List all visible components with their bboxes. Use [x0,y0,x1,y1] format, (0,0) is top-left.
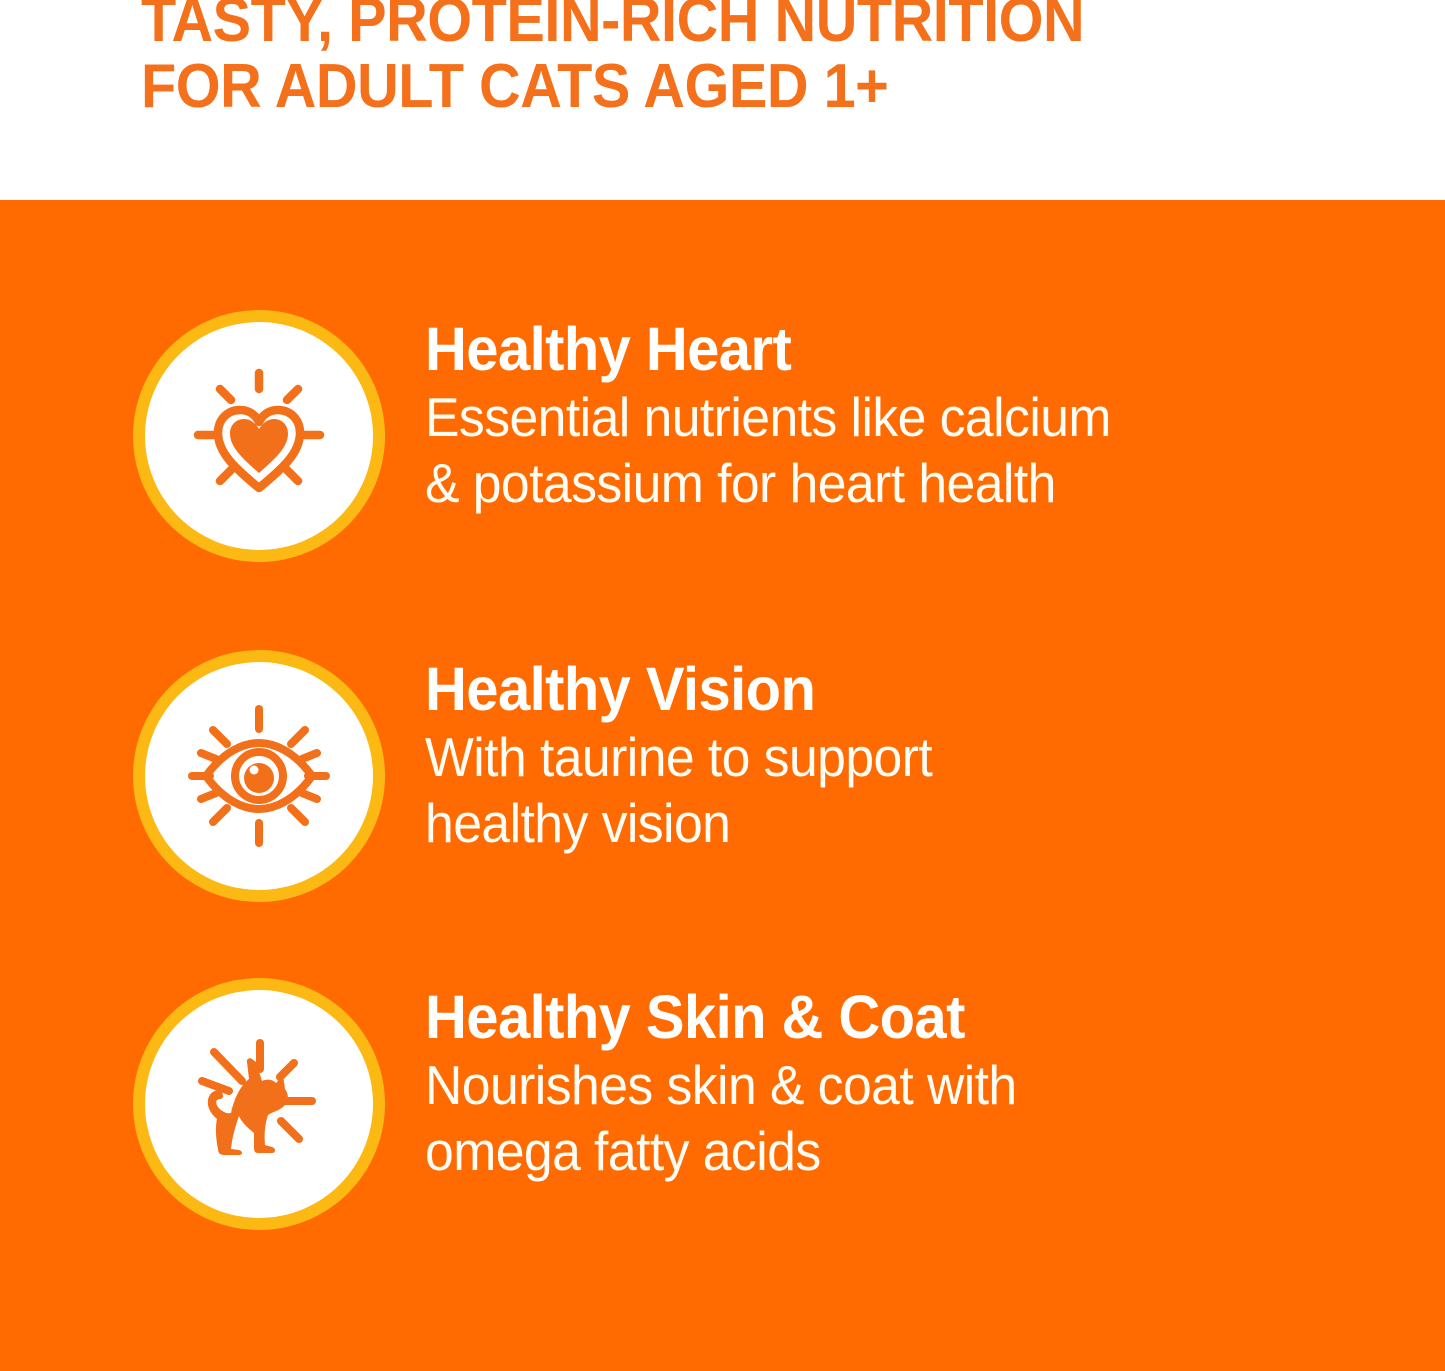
feature-text-healthy-skin-and-coat: Healthy Skin & Coat Nourishes skin & coa… [425,984,1405,1184]
feature-title: Healthy Vision [425,656,1356,722]
feature-title: Healthy Skin & Coat [425,984,1356,1050]
page-title: TASTY, PROTEIN-RICH NUTRITION FOR ADULT … [141,0,1285,120]
infographic-page: TASTY, PROTEIN-RICH NUTRITION FOR ADULT … [0,0,1445,1371]
feature-description: Essential nutrients like calcium & potas… [425,384,1346,516]
heart-rays-icon [145,322,373,550]
icon-badge-healthy-heart [133,310,385,562]
icon-badge-healthy-vision [133,650,385,902]
feature-description: With taurine to support healthy vision [425,724,1346,856]
header-band: TASTY, PROTEIN-RICH NUTRITION FOR ADULT … [0,0,1445,200]
feature-text-healthy-heart: Healthy Heart Essential nutrients like c… [425,316,1405,516]
feature-title: Healthy Heart [425,316,1356,382]
eye-rays-icon [145,662,373,890]
feature-text-healthy-vision: Healthy Vision With taurine to support h… [425,656,1405,856]
icon-badge-healthy-skin-and-coat [133,978,385,1230]
features-panel: Healthy Heart Essential nutrients like c… [0,200,1445,1371]
cat-rays-icon [145,990,373,1218]
feature-description: Nourishes skin & coat with omega fatty a… [425,1052,1346,1184]
